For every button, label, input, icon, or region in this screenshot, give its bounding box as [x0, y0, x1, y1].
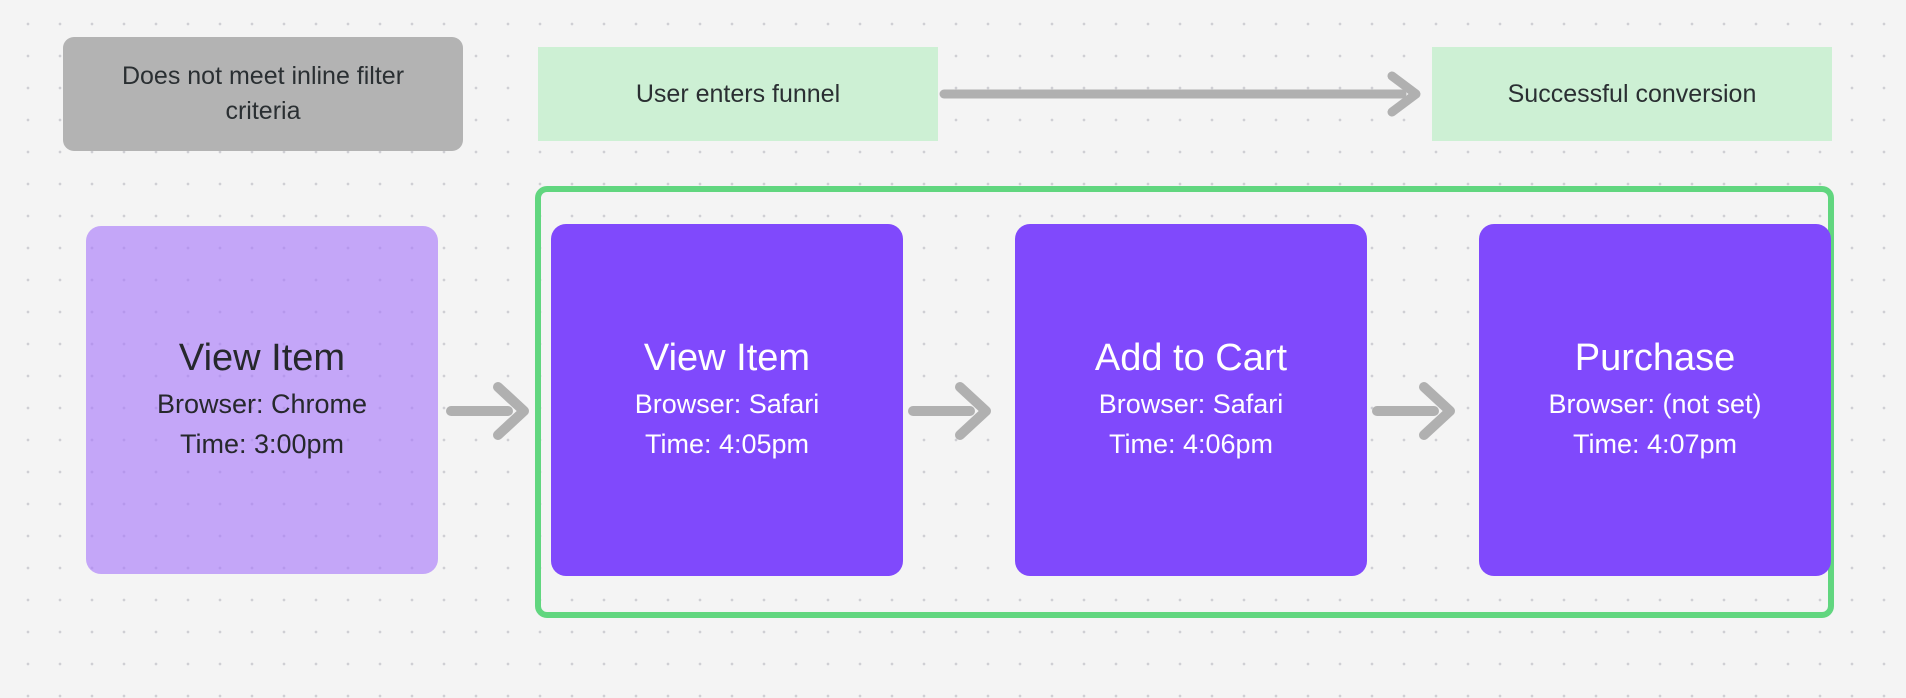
event-time: Time: 3:00pm: [180, 425, 344, 465]
event-browser: Browser: Chrome: [157, 385, 367, 425]
flow-arrow-right-icon-2: [1372, 380, 1460, 442]
diagram-canvas: Does not meet inline filter criteria Use…: [0, 0, 1906, 698]
legend-excluded-note: Does not meet inline filter criteria: [63, 37, 463, 151]
flow-arrow-right-icon-0: [446, 380, 534, 442]
funnel-step-card-2[interactable]: Add to Cart Browser: Safari Time: 4:06pm: [1015, 224, 1367, 576]
funnel-step-card-3[interactable]: Purchase Browser: (not set) Time: 4:07pm: [1479, 224, 1831, 576]
event-title: View Item: [179, 336, 345, 382]
event-card-excluded[interactable]: View Item Browser: Chrome Time: 3:00pm: [86, 226, 438, 574]
event-time: Time: 4:06pm: [1109, 425, 1273, 465]
event-browser: Browser: Safari: [635, 385, 820, 425]
funnel-step-card-1[interactable]: View Item Browser: Safari Time: 4:05pm: [551, 224, 903, 576]
event-title: Add to Cart: [1095, 336, 1287, 382]
event-title: View Item: [644, 336, 810, 382]
legend-funnel-entry: User enters funnel: [538, 47, 938, 141]
legend-funnel-exit: Successful conversion: [1432, 47, 1832, 141]
event-title: Purchase: [1575, 336, 1736, 382]
event-browser: Browser: Safari: [1099, 385, 1284, 425]
event-time: Time: 4:07pm: [1573, 425, 1737, 465]
legend-arrow-right-icon: [940, 70, 1430, 118]
event-browser: Browser: (not set): [1548, 385, 1761, 425]
event-time: Time: 4:05pm: [645, 425, 809, 465]
flow-arrow-right-icon-1: [908, 380, 996, 442]
